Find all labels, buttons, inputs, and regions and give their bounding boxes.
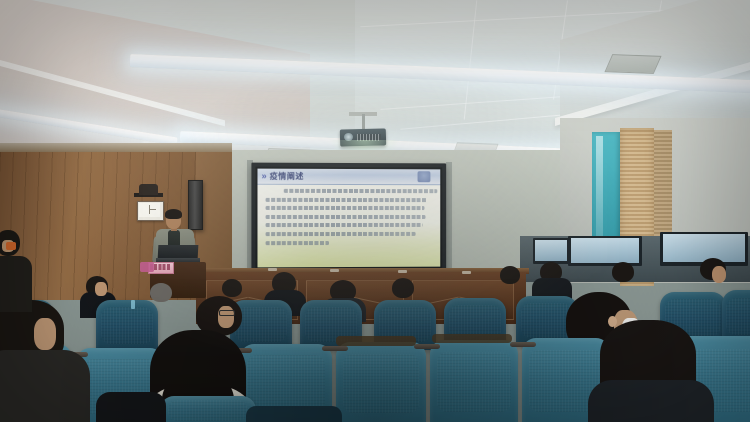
slide-text-line xyxy=(266,241,330,245)
monitor-screen xyxy=(535,240,567,261)
attendee-body xyxy=(0,350,90,422)
attendee-body xyxy=(96,392,166,422)
seat-armrest xyxy=(414,344,440,349)
attendee-body xyxy=(588,380,714,422)
eyeglasses-icon xyxy=(219,310,235,316)
auditorium-seat xyxy=(96,300,158,352)
wall-cornice xyxy=(0,143,232,152)
slide-title: 疫情阐述 xyxy=(270,171,390,182)
presentation-slide: » 疫情阐述 xyxy=(257,169,440,268)
attendee-head xyxy=(392,278,414,298)
conference-room-photo: » 疫情阐述 xyxy=(0,0,750,422)
slide-text-line xyxy=(266,232,416,236)
wall-loudspeaker xyxy=(188,180,203,230)
attendee-head xyxy=(222,279,242,297)
projector-mount-rod xyxy=(362,114,365,130)
clock-hand-icon xyxy=(149,209,156,210)
attendee-body xyxy=(0,256,32,312)
seat-armrest xyxy=(322,346,348,351)
seat-armrest xyxy=(510,342,536,347)
laptop-screen xyxy=(158,245,199,259)
chevron-right-icon: » xyxy=(262,172,270,180)
slide-text-line xyxy=(266,215,426,219)
attendee-face xyxy=(712,266,726,283)
phone-icon xyxy=(6,242,16,250)
monitor-screen xyxy=(571,238,639,263)
ceiling-vent-icon xyxy=(604,54,661,74)
organization-emblem-icon xyxy=(418,171,431,182)
desk-light xyxy=(398,270,407,273)
desk-light xyxy=(268,268,277,271)
attendee-face xyxy=(34,318,56,350)
screen-side-rail xyxy=(446,162,452,276)
attendee-head xyxy=(500,266,520,284)
attendee-head xyxy=(150,283,172,302)
seat-back-rail xyxy=(336,336,416,346)
attendee-face xyxy=(95,282,107,296)
phone-icon xyxy=(140,262,154,272)
auditorium-seat xyxy=(336,342,426,422)
auditorium-seat xyxy=(430,340,518,422)
slide-text-line xyxy=(266,206,425,210)
presenter-hair xyxy=(165,209,182,219)
attendee-ear xyxy=(608,316,617,327)
auditorium-seat xyxy=(246,406,342,422)
wall-ornament xyxy=(139,184,158,195)
slide-body-text xyxy=(266,189,433,261)
seat-back-rail xyxy=(432,334,512,343)
slide-text-line xyxy=(284,189,437,193)
monitor-screen xyxy=(663,234,745,262)
desk-light xyxy=(462,271,471,274)
slide-text-line xyxy=(266,223,423,227)
attendee-head xyxy=(612,262,634,282)
water-bottle xyxy=(131,300,135,309)
auditorium-seat xyxy=(160,396,256,422)
desk-light xyxy=(330,269,339,272)
slide-text-line xyxy=(266,197,428,201)
